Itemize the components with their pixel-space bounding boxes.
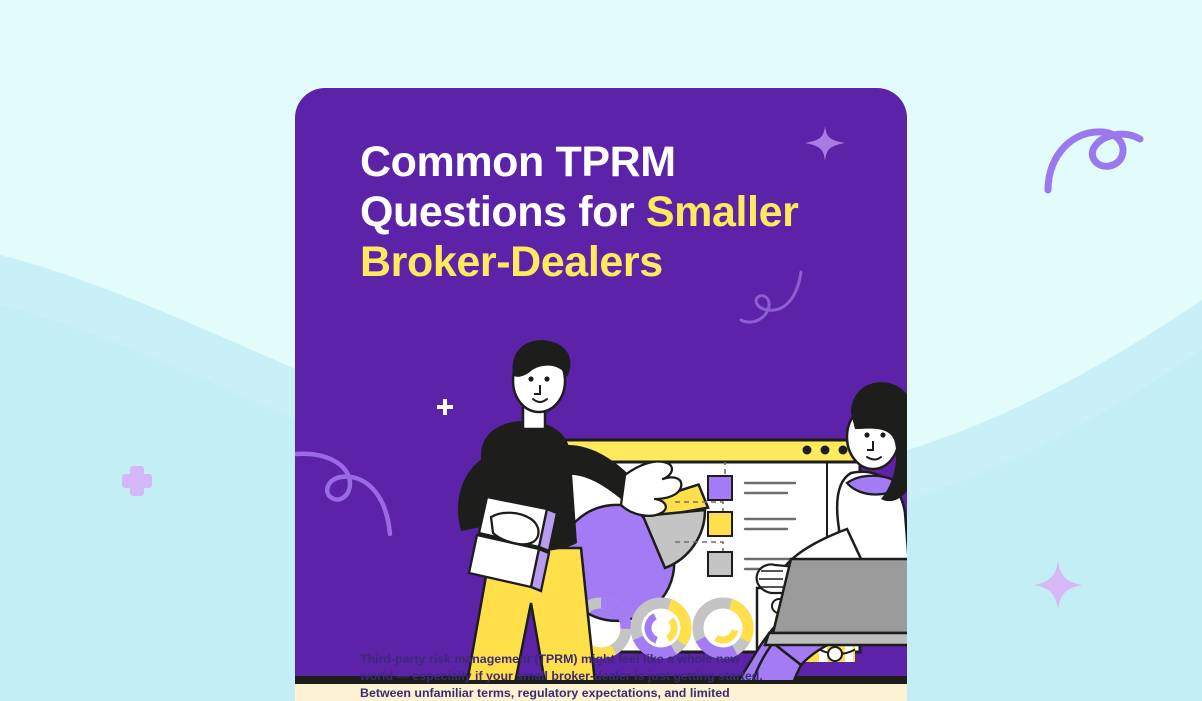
legend-swatches — [708, 476, 732, 576]
loop-swirl-icon — [1040, 118, 1152, 198]
sparkle-icon — [1034, 560, 1082, 610]
title-line-3: Broker-Dealers — [360, 237, 860, 287]
page-canvas: Common TPRM Questions for Smaller Broker… — [0, 0, 1202, 701]
title-line-2-accent: Smaller — [646, 188, 799, 236]
article-card: Common TPRM Questions for Smaller Broker… — [295, 88, 907, 701]
body-paragraph: Third-party risk management (TPRM) might… — [360, 651, 765, 701]
page-title: Common TPRM Questions for Smaller Broker… — [360, 137, 860, 287]
title-line-1: Common TPRM — [360, 137, 860, 187]
title-line-2: Questions for Smaller — [360, 187, 860, 237]
plus-icon — [118, 462, 156, 500]
title-line-2-plain: Questions for — [360, 188, 646, 236]
